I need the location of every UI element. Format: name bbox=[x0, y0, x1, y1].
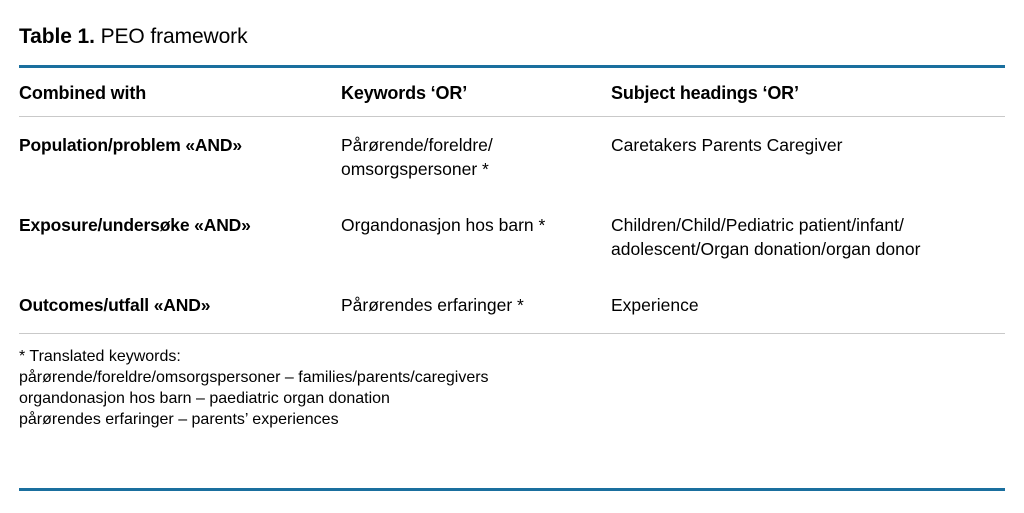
cell-combined-with: Outcomes/utfall «AND» bbox=[19, 293, 341, 317]
cell-subject-headings: Caretakers Parents Caregiver bbox=[611, 133, 1005, 181]
column-header-subject-headings: Subject headings ‘OR’ bbox=[611, 81, 1005, 105]
accent-rule-bottom bbox=[19, 488, 1005, 491]
caption-title: PEO framework bbox=[95, 25, 248, 48]
cell-subject-headings: Experience bbox=[611, 293, 1005, 317]
cell-keywords: Pårørendes erfaringer * bbox=[341, 293, 611, 317]
table-figure: Table 1. PEO framework Combined with Key… bbox=[0, 0, 1024, 513]
cell-keywords: Organdonasjon hos barn * bbox=[341, 213, 611, 261]
cell-combined-with: Exposure/undersøke «AND» bbox=[19, 213, 341, 261]
table-row: Population/problem «AND» Pårørende/forel… bbox=[19, 117, 1005, 197]
cell-subject-headings: Children/Child/Pediatric patient/infant/… bbox=[611, 213, 1005, 261]
cell-combined-with: Population/problem «AND» bbox=[19, 133, 341, 181]
cell-keywords: Pårørende/foreldre/ omsorgspersoner * bbox=[341, 133, 611, 181]
table-row: Outcomes/utfall «AND» Pårørendes erfarin… bbox=[19, 277, 1005, 333]
table-header-row: Combined with Keywords ‘OR’ Subject head… bbox=[19, 68, 1005, 116]
table-footnote: * Translated keywords: pårørende/foreldr… bbox=[19, 334, 1005, 430]
column-header-keywords: Keywords ‘OR’ bbox=[341, 81, 611, 105]
caption-label: Table 1. bbox=[19, 25, 95, 48]
table-caption: Table 1. PEO framework bbox=[19, 0, 1005, 50]
table-row: Exposure/undersøke «AND» Organdonasjon h… bbox=[19, 197, 1005, 277]
column-header-combined-with: Combined with bbox=[19, 81, 341, 105]
